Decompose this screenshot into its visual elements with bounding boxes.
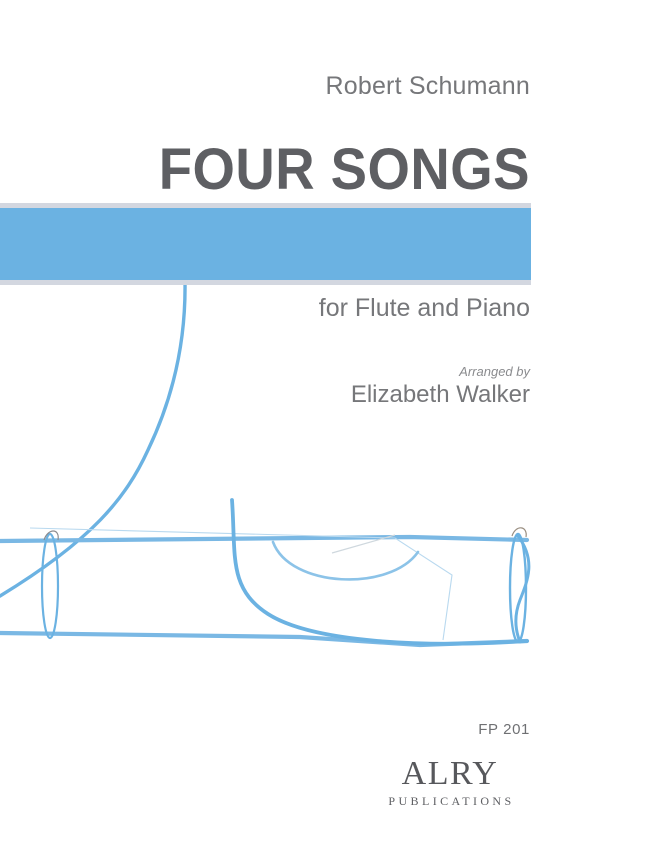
- page-title: FOUR SONGS: [159, 141, 530, 199]
- flute-line-drawing: [0, 0, 645, 860]
- arranged-by-label: Arranged by: [459, 364, 530, 379]
- publisher-logo: ALRY PUBLICATIONS: [370, 757, 530, 809]
- band-fill: [0, 208, 531, 280]
- flute-neck-curve: [0, 281, 185, 596]
- flute-key-ring-left: [42, 534, 58, 638]
- flute-embouchure-arc: [273, 542, 418, 579]
- flute-interior-curve: [232, 500, 527, 644]
- publisher-tagline: PUBLICATIONS: [370, 794, 530, 809]
- sheet-music-cover: Robert Schumann FOUR SONGS for Flute and…: [0, 0, 645, 860]
- instrumentation-subtitle: for Flute and Piano: [319, 294, 530, 323]
- decorative-band: [0, 203, 531, 285]
- catalog-number: FP 201: [478, 721, 530, 738]
- publisher-name: ALRY: [370, 757, 530, 791]
- composer-name: Robert Schumann: [325, 72, 530, 101]
- band-rule-bottom: [0, 280, 531, 285]
- arranger-name: Elizabeth Walker: [351, 381, 530, 409]
- flute-body-top-edge: [0, 537, 527, 541]
